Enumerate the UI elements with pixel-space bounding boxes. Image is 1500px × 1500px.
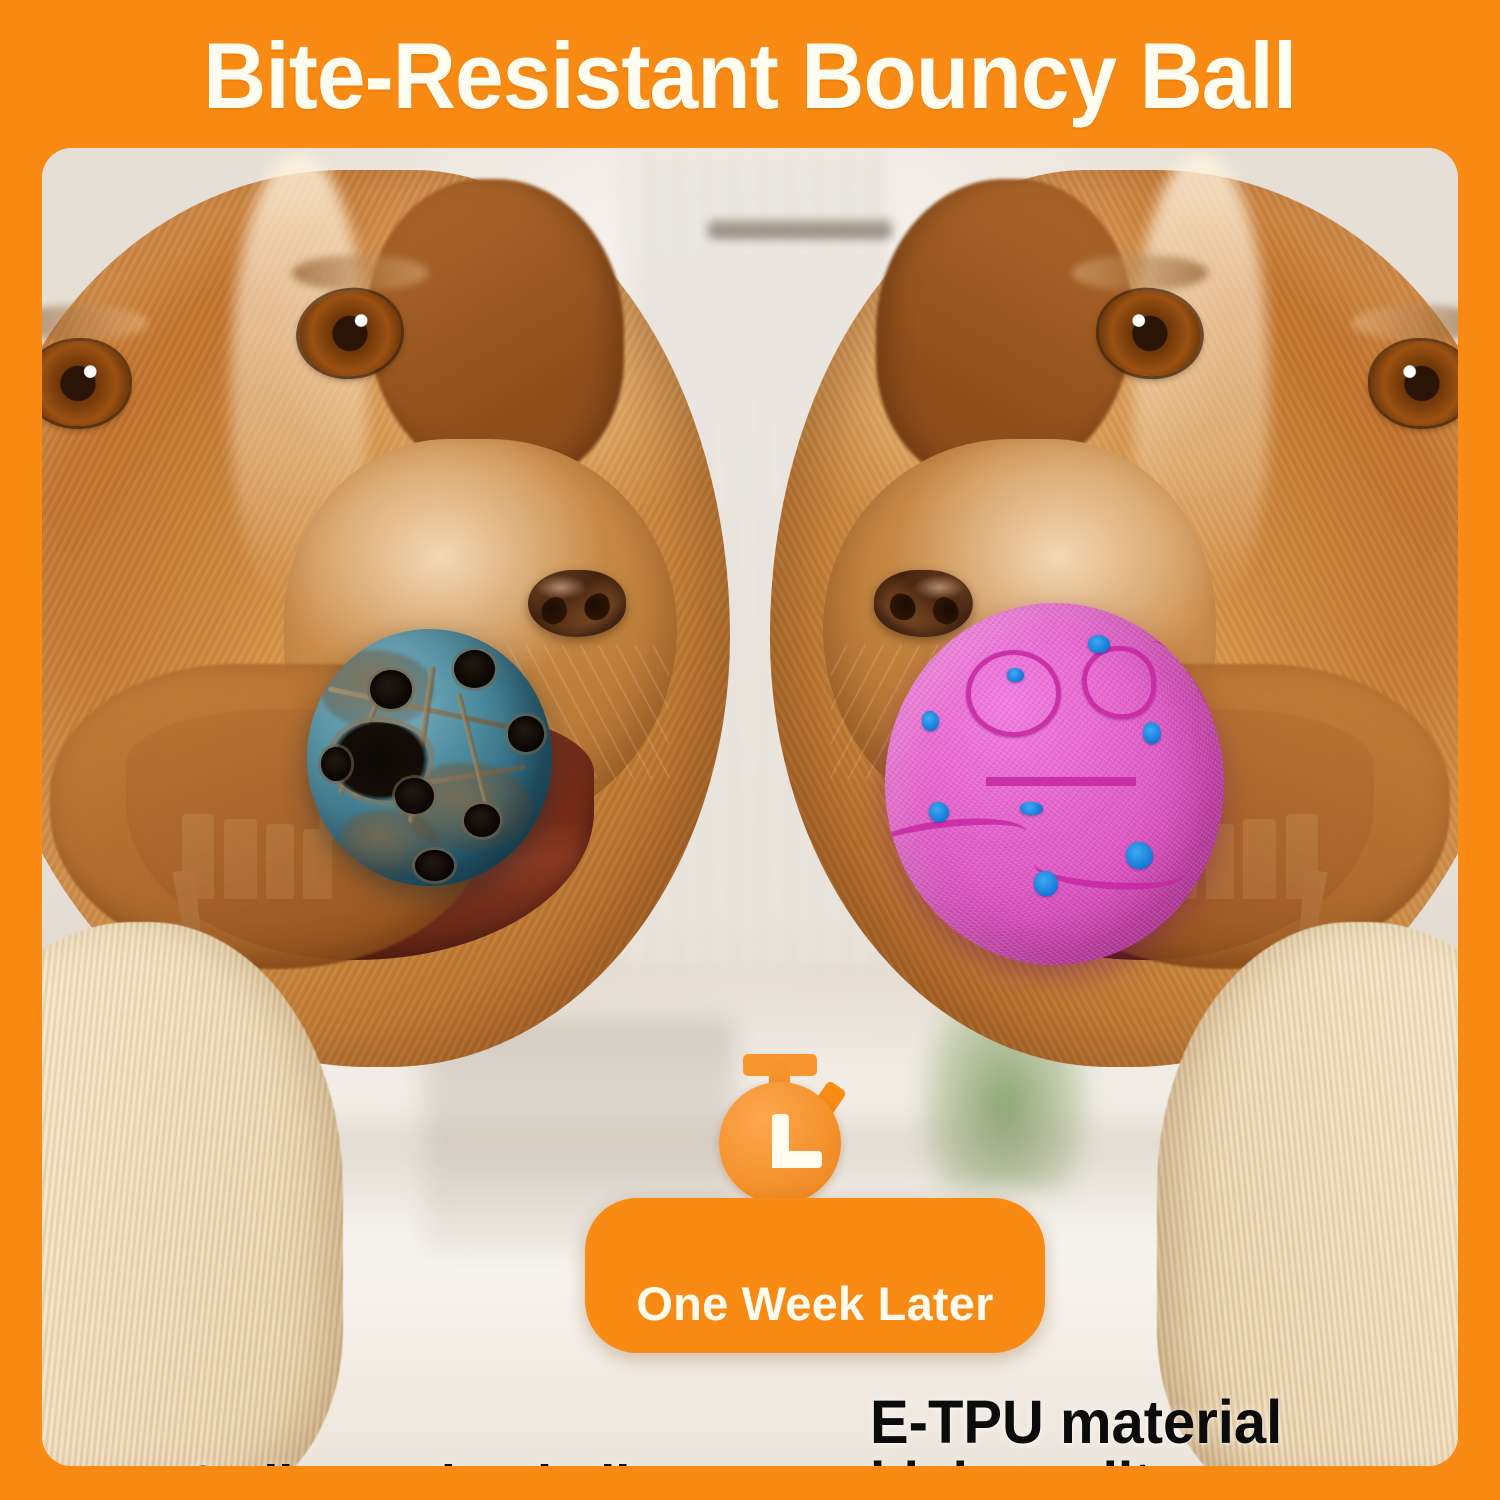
stopwatch-icon (691, 1048, 856, 1213)
title-bar: Bite-Resistant Bouncy Ball (0, 0, 1500, 152)
dog-brow (1072, 255, 1208, 291)
dog-nose (528, 570, 626, 637)
nostril (538, 594, 570, 626)
badge-pill: One Week Later (585, 1198, 1045, 1353)
caption-etpu-ball: E-TPU material high-quality chew-resista… (870, 1391, 1282, 1466)
caption-line-2: high-quality (870, 1454, 1282, 1466)
badge-label: One Week Later (636, 1276, 993, 1331)
comparison-photo: One Week Later Ordinary dog ball E-TPU m… (42, 148, 1458, 1466)
ordinary-dog-ball (307, 629, 552, 886)
product-poster: Bite-Resistant Bouncy Ball (0, 0, 1500, 1500)
page-title: Bite-Resistant Bouncy Ball (203, 29, 1296, 123)
one-week-later-badge: One Week Later (543, 1048, 1003, 1353)
nostril (582, 591, 612, 621)
caption-ordinary-ball: Ordinary dog ball (182, 1458, 630, 1466)
e-tpu-bouncy-ball (885, 603, 1225, 965)
dog-brow (292, 255, 428, 291)
caption-line-1: E-TPU material (870, 1391, 1282, 1454)
